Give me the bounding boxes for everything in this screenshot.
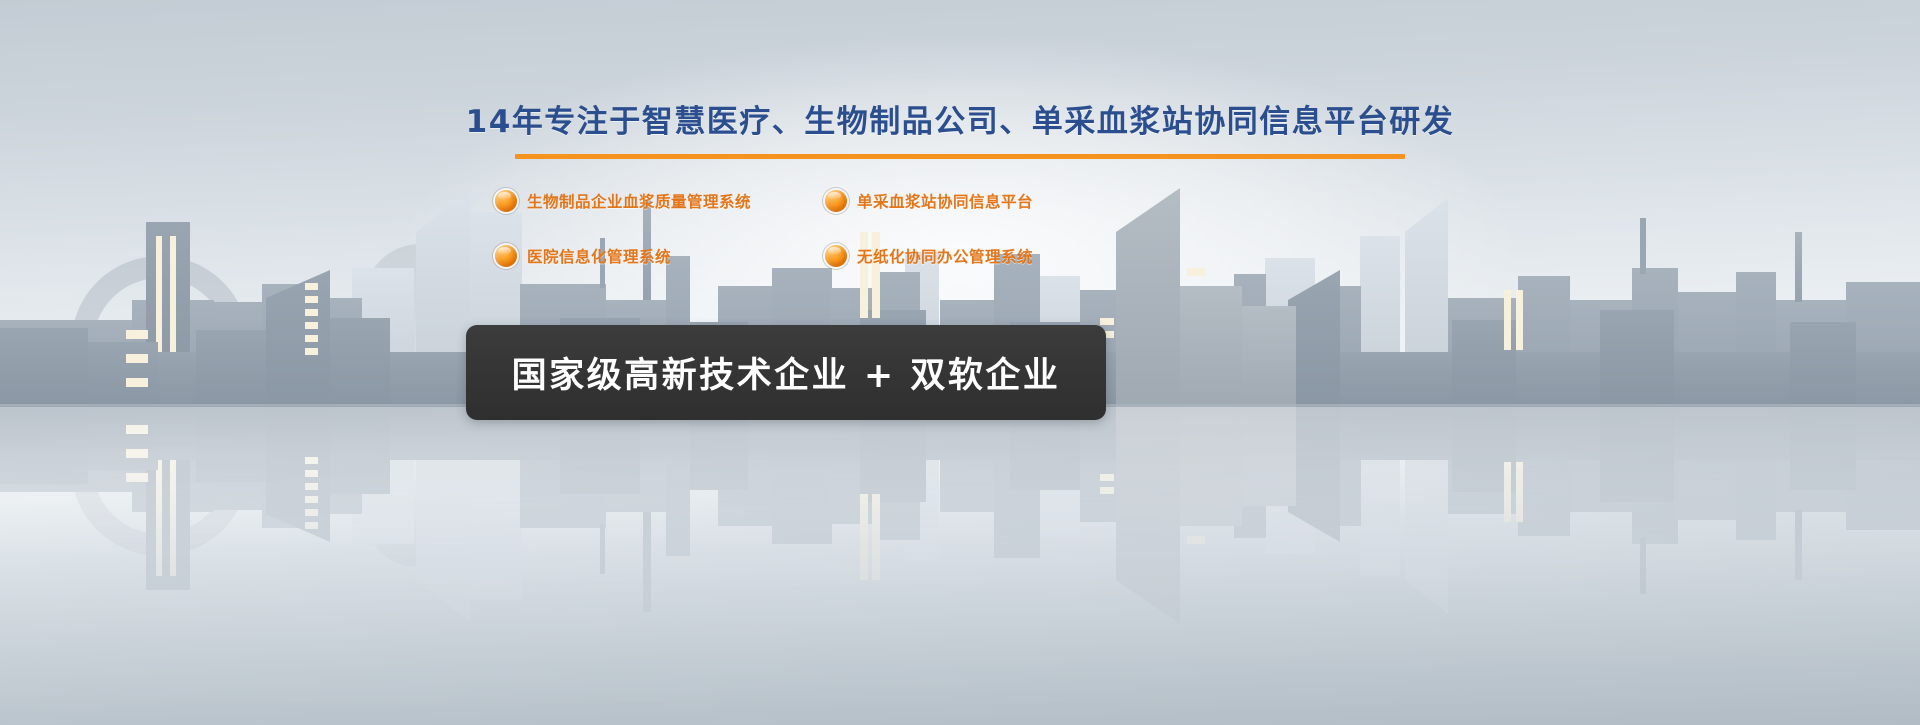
headline-block: 14年专注于智慧医疗、生物制品公司、单采血浆站协同信息平台研发 (0, 104, 1920, 159)
certification-badge-label: 国家级高新技术企业 + 双软企业 (512, 347, 1061, 398)
orange-sphere-bullet-icon (495, 245, 517, 267)
promo-banner: 14年专注于智慧医疗、生物制品公司、单采血浆站协同信息平台研发 生物制品企业血浆… (0, 0, 1920, 725)
product-list: 生物制品企业血浆质量管理系统 单采血浆站协同信息平台 医院信息化管理系统 无纸化… (495, 190, 1195, 267)
product-item-label: 无纸化协同办公管理系统 (857, 245, 1033, 267)
product-row-2: 医院信息化管理系统 无纸化协同办公管理系统 (495, 245, 1195, 267)
product-item-plasma-quality[interactable]: 生物制品企业血浆质量管理系统 (495, 190, 825, 212)
product-item-plasma-station[interactable]: 单采血浆站协同信息平台 (825, 190, 1155, 212)
product-item-label: 单采血浆站协同信息平台 (857, 190, 1033, 212)
product-item-label: 医院信息化管理系统 (527, 245, 671, 267)
orange-sphere-bullet-icon (495, 190, 517, 212)
page-title: 14年专注于智慧医疗、生物制品公司、单采血浆站协同信息平台研发 (0, 104, 1920, 141)
orange-sphere-bullet-icon (825, 190, 847, 212)
product-item-hospital-informatization[interactable]: 医院信息化管理系统 (495, 245, 825, 267)
certification-badge: 国家级高新技术企业 + 双软企业 (466, 325, 1106, 420)
product-item-paperless-office[interactable]: 无纸化协同办公管理系统 (825, 245, 1155, 267)
product-item-label: 生物制品企业血浆质量管理系统 (527, 190, 751, 212)
product-row-1: 生物制品企业血浆质量管理系统 单采血浆站协同信息平台 (495, 190, 1195, 212)
title-underline (515, 154, 1405, 159)
orange-sphere-bullet-icon (825, 245, 847, 267)
